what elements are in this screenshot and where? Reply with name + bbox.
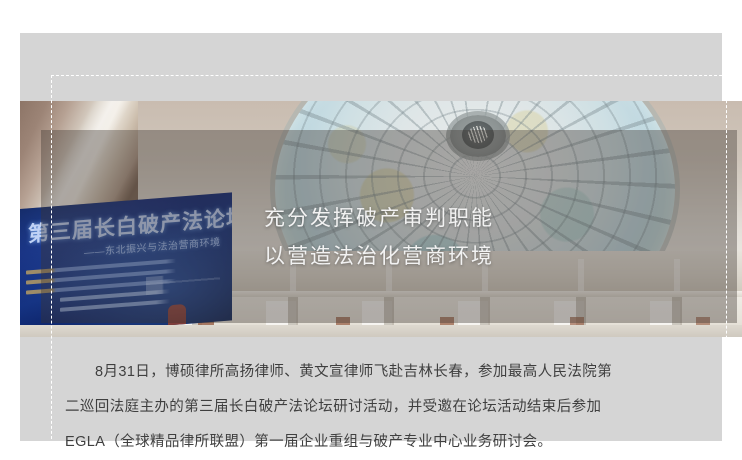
body-line-3: EGLA（全球精品律所联盟）第一届企业重组与破产专业中心业务研讨会。 [65, 425, 715, 460]
body-line-2: 二巡回法庭主办的第三届长白破产法论坛研讨活动，并受邀在论坛活动结束后参加 [65, 390, 715, 425]
hero-title: 充分发挥破产审判职能 以营造法治化营商环境 [264, 200, 494, 276]
article-body-text: 8月31日，博硕律所高扬律师、黄文宣律师飞赴吉林长春，参加最高人民法院第 二巡回… [65, 355, 715, 460]
hall-floor [20, 325, 742, 337]
article-card: 第三届长白破产法论坛 ——东北振兴与法治营商环境 充分发挥破产审判职能 以营造法… [20, 33, 722, 441]
hero-title-line-2: 以营造法治化营商环境 [264, 238, 494, 276]
body-line-1: 8月31日，博硕律所高扬律师、黄文宣律师飞赴吉林长春，参加最高人民法院第 [65, 355, 715, 390]
hero-image: 第三届长白破产法论坛 ——东北振兴与法治营商环境 充分发挥破产审判职能 以营造法… [20, 101, 742, 337]
hero-title-line-1: 充分发挥破产审判职能 [264, 200, 494, 238]
